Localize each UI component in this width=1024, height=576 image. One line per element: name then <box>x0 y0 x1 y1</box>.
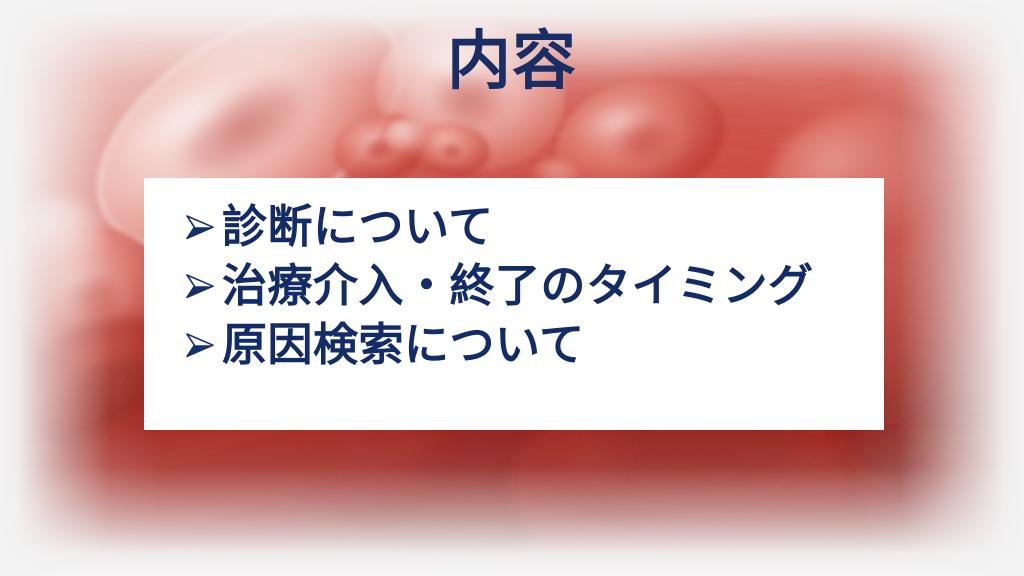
bullet-list: 診断について 治療介入・終了のタイミング 原 <box>182 204 874 381</box>
content-panel: 診断について 治療介入・終了のタイミング 原 <box>144 178 884 430</box>
slide-title: 内容 <box>0 24 1024 100</box>
arrowhead-bullet-icon <box>182 269 222 303</box>
arrowhead-bullet-icon <box>182 328 222 362</box>
arrowhead-bullet-icon <box>182 210 222 244</box>
bullet-item-1: 診断について <box>182 204 874 263</box>
presentation-slide: 内容 診断について 治療介入・終了 <box>0 0 1024 576</box>
bullet-item-2-label: 治療介入・終了のタイミング <box>222 263 814 308</box>
bullet-item-2: 治療介入・終了のタイミング <box>182 263 874 322</box>
bullet-item-1-label: 診断について <box>222 204 494 249</box>
bullet-item-3: 原因検索について <box>182 322 874 381</box>
bullet-item-3-label: 原因検索について <box>222 322 585 367</box>
